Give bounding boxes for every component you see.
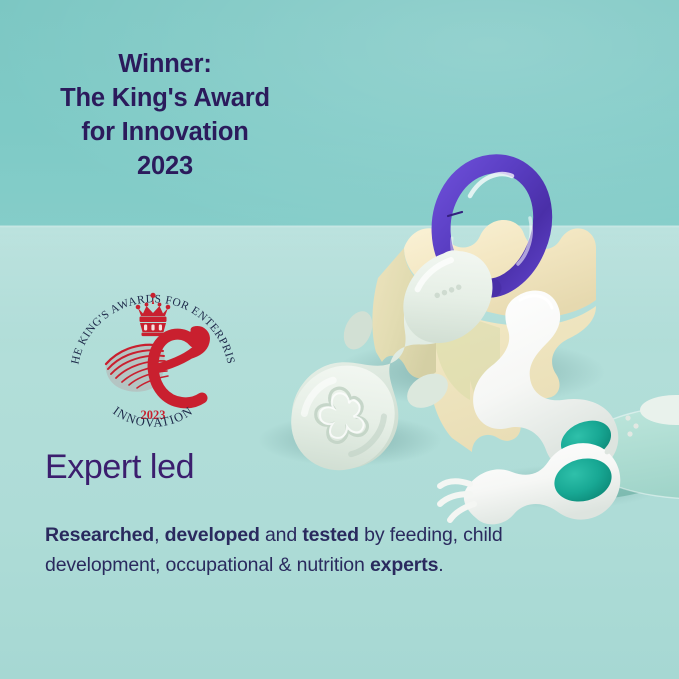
body-emphasis: developed <box>165 524 260 546</box>
product-marketing-image: •••• Winner: The King's Award for Innova… <box>0 0 679 679</box>
body-copy: Researched, developed and tested by feed… <box>45 521 605 581</box>
body-text: and <box>260 524 303 546</box>
body-text: . <box>438 554 443 576</box>
winged-e-emblem <box>106 330 207 403</box>
body-emphasis: tested <box>302 524 359 546</box>
body-emphasis: experts <box>370 554 438 576</box>
section-heading: Expert led <box>45 448 194 487</box>
white-baby-fork <box>440 443 620 524</box>
body-text: , <box>154 524 165 546</box>
kings-awards-badge: THE KING'S AWARDS FOR ENTERPRISE <box>62 268 244 450</box>
body-emphasis: Researched <box>45 524 154 546</box>
award-headline: Winner: The King's Award for Innovation … <box>0 48 330 184</box>
